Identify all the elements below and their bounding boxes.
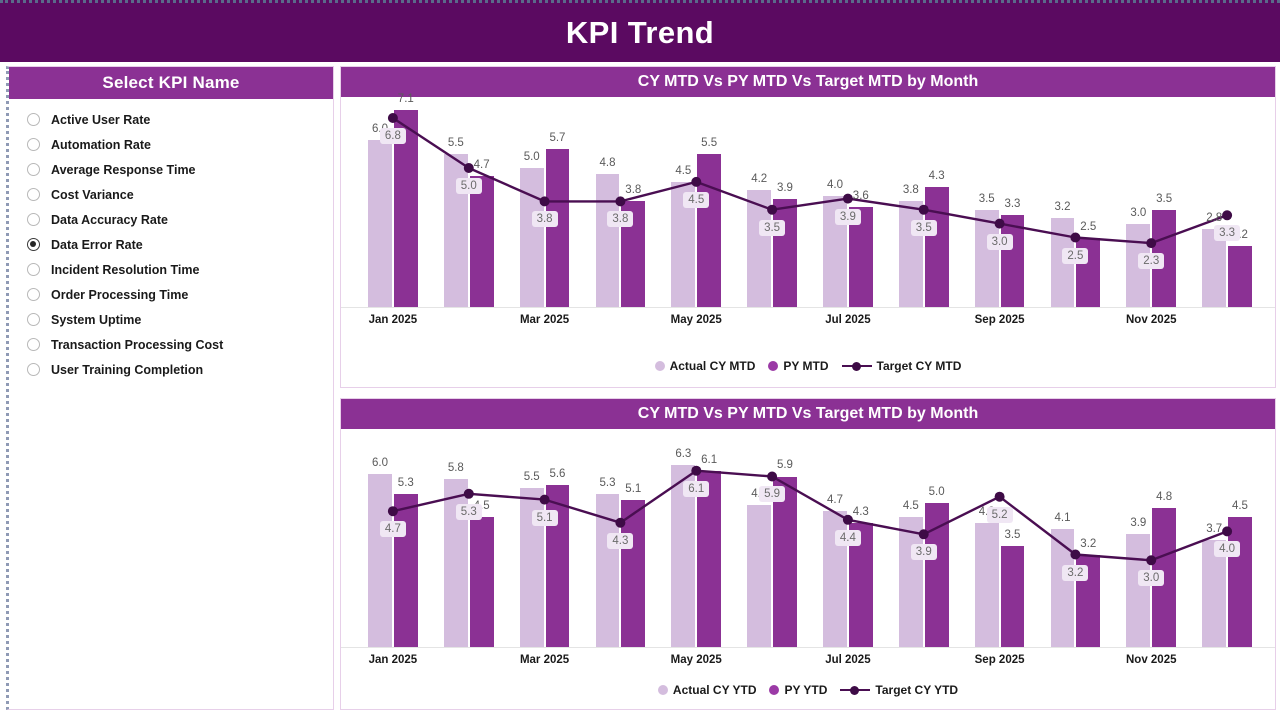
slicer-item-label: Order Processing Time (51, 288, 188, 302)
slicer-title: Select KPI Name (102, 73, 239, 93)
radio-icon[interactable] (27, 188, 40, 201)
legend-dot-icon (768, 361, 778, 371)
slicer-item-label: User Training Completion (51, 363, 203, 377)
slicer-item-label: Average Response Time (51, 163, 196, 177)
x-axis-tick: May 2025 (671, 654, 722, 666)
x-axis-tick: Jan 2025 (369, 654, 418, 666)
legend-item-actual-cy-mtd[interactable]: Actual CY MTD (655, 359, 756, 373)
chart-panel-mtd: CY MTD Vs PY MTD Vs Target MTD by Month … (340, 66, 1276, 388)
page-header: KPI Trend (0, 0, 1280, 62)
chart-mtd-header: CY MTD Vs PY MTD Vs Target MTD by Month (341, 67, 1275, 97)
x-axis-tick: Jul 2025 (825, 654, 870, 666)
kpi-trend-dashboard: KPI Trend Select KPI Name Active User Ra… (0, 0, 1280, 716)
legend-item-py-ytd[interactable]: PY YTD (769, 683, 827, 697)
page-title: KPI Trend (566, 15, 714, 51)
radio-icon[interactable] (27, 163, 40, 176)
slicer-item-label: Data Error Rate (51, 238, 143, 252)
x-axis-tick: May 2025 (671, 314, 722, 326)
x-axis-tick: Mar 2025 (520, 654, 569, 666)
x-axis-tick: Jul 2025 (825, 314, 870, 326)
slicer-item-label: Incident Resolution Time (51, 263, 199, 277)
slicer-item-active-user-rate[interactable]: Active User Rate (27, 107, 333, 132)
chart-mtd-plot[interactable]: 6.07.16.85.54.75.05.05.73.84.83.83.84.55… (341, 97, 1275, 353)
x-axis-tick: Sep 2025 (975, 654, 1025, 666)
x-axis-tick: Nov 2025 (1126, 314, 1177, 326)
chart-ytd-header: CY MTD Vs PY MTD Vs Target MTD by Month (341, 399, 1275, 429)
legend-line-icon (842, 361, 872, 371)
slicer-item-label: Automation Rate (51, 138, 151, 152)
slicer-item-order-processing-time[interactable]: Order Processing Time (27, 282, 333, 307)
x-axis-layer: Jan 2025Mar 2025May 2025Jul 2025Sep 2025… (341, 429, 1275, 677)
legend-label: Actual CY YTD (673, 683, 757, 697)
x-axis-tick: Mar 2025 (520, 314, 569, 326)
legend-label: Target CY YTD (875, 683, 958, 697)
legend-line-icon (840, 685, 870, 695)
radio-icon[interactable] (27, 288, 40, 301)
radio-icon[interactable] (27, 213, 40, 226)
legend-label: Target CY MTD (877, 359, 962, 373)
slicer-item-cost-variance[interactable]: Cost Variance (27, 182, 333, 207)
slicer-header: Select KPI Name (9, 67, 333, 99)
radio-icon[interactable] (27, 338, 40, 351)
slicer-item-data-error-rate[interactable]: Data Error Rate (27, 232, 333, 257)
chart-ytd-legend: Actual CY YTDPY YTDTarget CY YTD (341, 677, 1275, 703)
slicer-item-user-training-completion[interactable]: User Training Completion (27, 357, 333, 382)
legend-item-actual-cy-ytd[interactable]: Actual CY YTD (658, 683, 757, 697)
radio-icon[interactable] (27, 138, 40, 151)
slicer-item-label: Cost Variance (51, 188, 134, 202)
slicer-item-label: Transaction Processing Cost (51, 338, 223, 352)
legend-label: PY YTD (784, 683, 827, 697)
slicer-item-average-response-time[interactable]: Average Response Time (27, 157, 333, 182)
radio-icon[interactable] (27, 113, 40, 126)
x-axis-layer: Jan 2025Mar 2025May 2025Jul 2025Sep 2025… (341, 97, 1275, 353)
radio-icon[interactable] (27, 363, 40, 376)
radio-icon[interactable] (27, 238, 40, 251)
legend-dot-icon (769, 685, 779, 695)
legend-item-target-cy-ytd[interactable]: Target CY YTD (840, 683, 958, 697)
chart-ytd-plot[interactable]: 6.05.34.75.84.55.35.55.65.15.35.14.36.36… (341, 429, 1275, 677)
legend-dot-icon (655, 361, 665, 371)
slicer-item-system-uptime[interactable]: System Uptime (27, 307, 333, 332)
slicer-item-incident-resolution-time[interactable]: Incident Resolution Time (27, 257, 333, 282)
chart-panel-ytd: CY MTD Vs PY MTD Vs Target MTD by Month … (340, 398, 1276, 710)
legend-dot-icon (658, 685, 668, 695)
chart-mtd-title: CY MTD Vs PY MTD Vs Target MTD by Month (638, 73, 978, 91)
x-axis-tick: Jan 2025 (369, 314, 418, 326)
slicer-item-data-accuracy-rate[interactable]: Data Accuracy Rate (27, 207, 333, 232)
x-axis-tick: Nov 2025 (1126, 654, 1177, 666)
slicer-item-label: Active User Rate (51, 113, 150, 127)
x-axis-tick: Sep 2025 (975, 314, 1025, 326)
chart-mtd-legend: Actual CY MTDPY MTDTarget CY MTD (341, 353, 1275, 379)
axis-baseline (341, 647, 1275, 648)
legend-item-py-mtd[interactable]: PY MTD (768, 359, 828, 373)
radio-icon[interactable] (27, 263, 40, 276)
slicer-item-automation-rate[interactable]: Automation Rate (27, 132, 333, 157)
kpi-slicer-panel: Select KPI Name Active User RateAutomati… (6, 66, 334, 710)
axis-baseline (341, 307, 1275, 308)
legend-item-target-cy-mtd[interactable]: Target CY MTD (842, 359, 962, 373)
legend-label: PY MTD (783, 359, 828, 373)
radio-icon[interactable] (27, 313, 40, 326)
kpi-radio-list: Active User RateAutomation RateAverage R… (9, 99, 333, 382)
chart-ytd-title: CY MTD Vs PY MTD Vs Target MTD by Month (638, 405, 978, 423)
legend-label: Actual CY MTD (670, 359, 756, 373)
slicer-item-transaction-processing-cost[interactable]: Transaction Processing Cost (27, 332, 333, 357)
slicer-item-label: Data Accuracy Rate (51, 213, 168, 227)
slicer-item-label: System Uptime (51, 313, 141, 327)
